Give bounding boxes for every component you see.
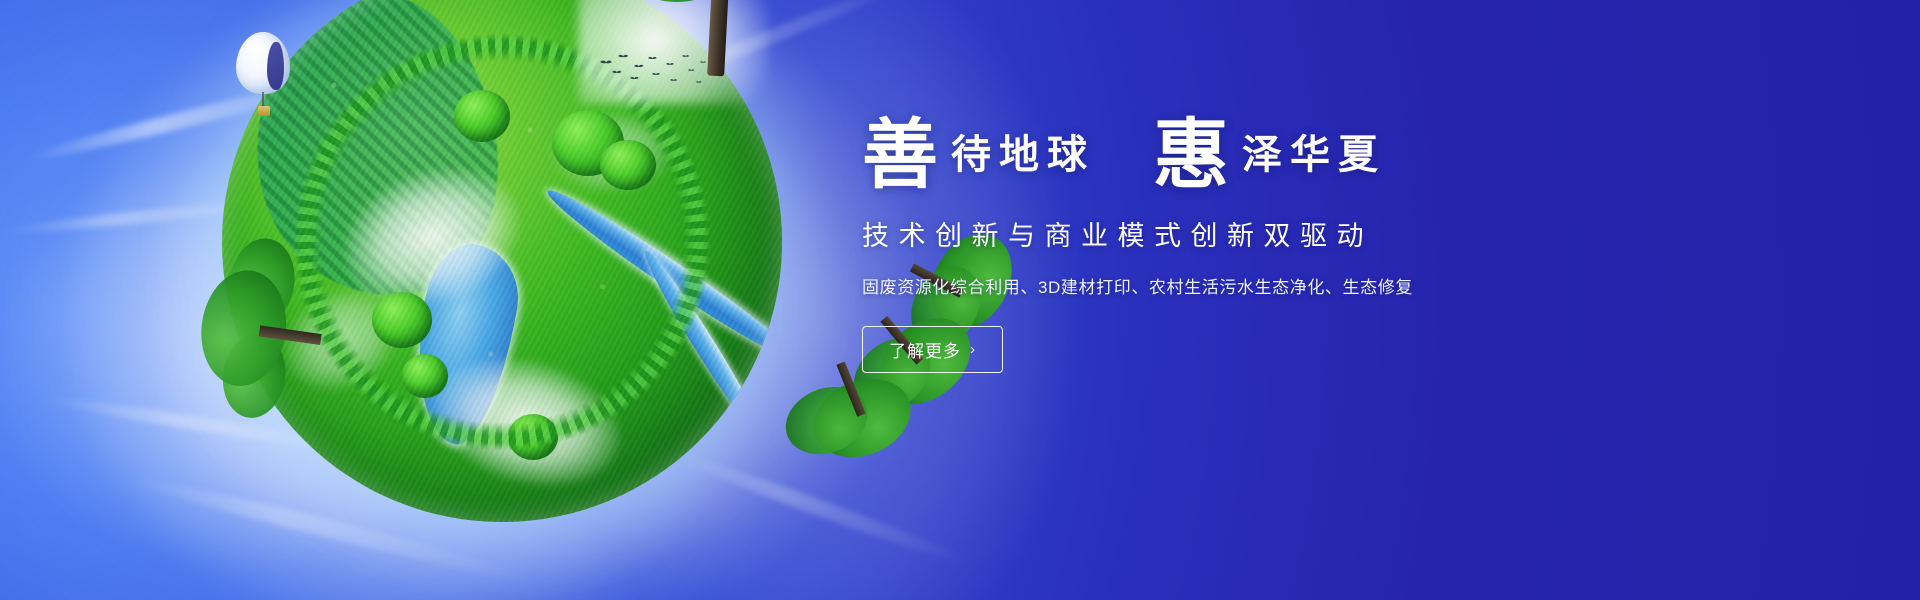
learn-more-button[interactable]: 了解更多 › bbox=[862, 326, 1003, 373]
chevron-right-icon: › bbox=[970, 341, 976, 358]
hot-air-balloon-icon bbox=[236, 32, 290, 118]
tree-cluster bbox=[372, 292, 432, 348]
tree-cluster bbox=[552, 110, 624, 176]
river bbox=[540, 180, 782, 369]
lake bbox=[401, 238, 526, 451]
side-tree bbox=[179, 224, 334, 430]
surface-mist bbox=[552, 112, 672, 192]
surface-mist bbox=[419, 338, 635, 506]
headline-lead-1: 善 bbox=[862, 118, 939, 192]
surface-mist bbox=[325, 145, 539, 329]
headline-lead-2: 惠 bbox=[1153, 118, 1230, 192]
bird-flock-icon bbox=[596, 50, 716, 90]
balloon-stripe bbox=[267, 42, 284, 90]
tree-cluster bbox=[600, 140, 656, 190]
tree-cluster bbox=[454, 90, 510, 142]
river bbox=[637, 245, 771, 442]
tree-cluster bbox=[402, 354, 448, 398]
headline-trail-1: 待地球 bbox=[951, 125, 1095, 192]
banner-subtitle: 技术创新与商业模式创新双驱动 bbox=[862, 214, 1622, 253]
banner-content: 善 待地球 惠 泽华夏 技术创新与商业模式创新双驱动 固废资源化综合利用、3D建… bbox=[862, 118, 1622, 373]
balloon-basket bbox=[258, 106, 270, 116]
banner-description: 固废资源化综合利用、3D建材打印、农村生活污水生态净化、生态修复 bbox=[862, 273, 1622, 298]
learn-more-label: 了解更多 bbox=[889, 337, 961, 362]
headline-trail-2: 泽华夏 bbox=[1242, 125, 1386, 192]
hero-banner: 善 待地球 惠 泽华夏 技术创新与商业模式创新双驱动 固废资源化综合利用、3D建… bbox=[0, 0, 1920, 600]
tree-cluster bbox=[508, 414, 558, 460]
page-title: 善 待地球 惠 泽华夏 bbox=[862, 118, 1622, 192]
